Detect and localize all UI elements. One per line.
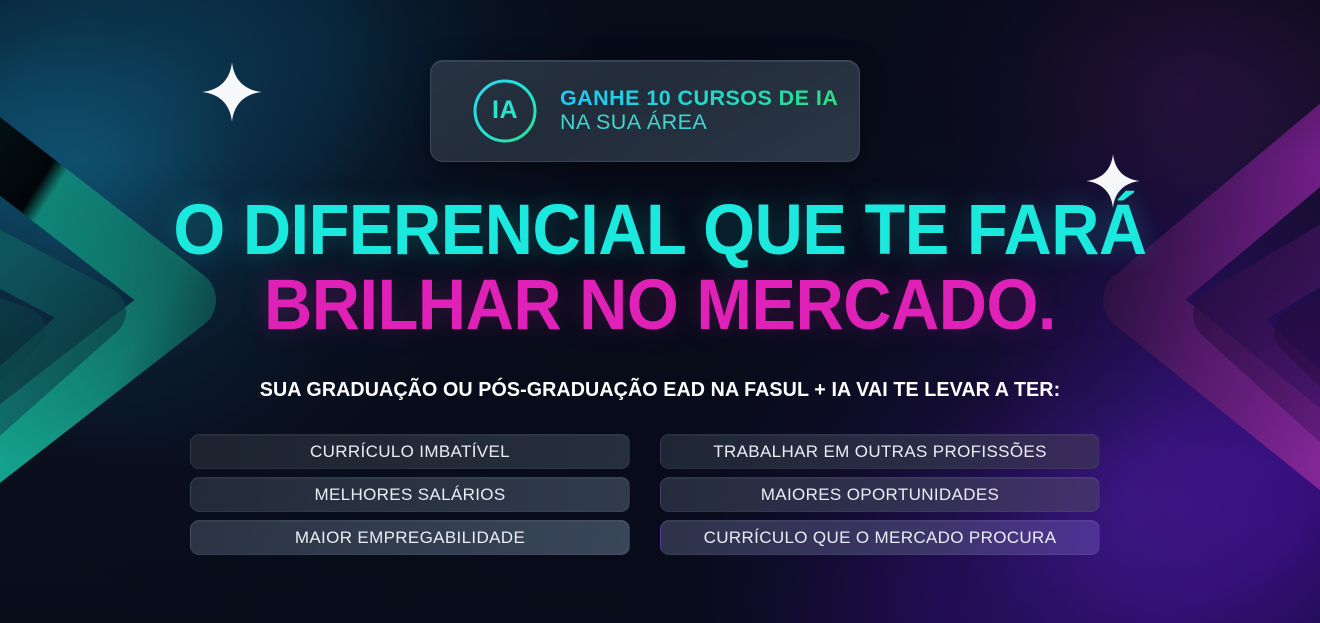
benefit-pill[interactable]: MAIORES OPORTUNIDADES (660, 477, 1100, 512)
benefits-column-left: CURRÍCULO IMBATÍVEL MELHORES SALÁRIOS MA… (190, 434, 630, 555)
benefit-pill[interactable]: TRABALHAR EM OUTRAS PROFISSÕES (660, 434, 1100, 469)
benefit-pill[interactable]: MELHORES SALÁRIOS (190, 477, 630, 512)
headline-line-1: O DIFERENCIAL QUE TE FARÁ (40, 197, 1281, 266)
benefits-column-right: TRABALHAR EM OUTRAS PROFISSÕES MAIORES O… (660, 434, 1100, 555)
headline-block: O DIFERENCIAL QUE TE FARÁ BRILHAR NO MER… (0, 197, 1320, 341)
ia-logo-icon: IA (472, 78, 538, 144)
promo-banner: IA GANHE 10 CURSOS DE IA NA SUA ÁREA O D… (0, 0, 1320, 623)
badge-subheadline: NA SUA ÁREA (560, 110, 838, 135)
headline-line-2: BRILHAR NO MERCADO. (40, 272, 1281, 341)
benefit-pill[interactable]: MAIOR EMPREGABILIDADE (190, 520, 630, 555)
benefits-grid: CURRÍCULO IMBATÍVEL MELHORES SALÁRIOS MA… (190, 434, 1100, 555)
ai-courses-badge[interactable]: IA GANHE 10 CURSOS DE IA NA SUA ÁREA (430, 60, 860, 162)
ia-logo-label: IA (472, 78, 538, 144)
benefit-pill[interactable]: CURRÍCULO IMBATÍVEL (190, 434, 630, 469)
subtitle-text: SUA GRADUAÇÃO OU PÓS-GRADUAÇÃO EAD NA FA… (26, 378, 1293, 402)
benefit-pill[interactable]: CURRÍCULO QUE O MERCADO PROCURA (660, 520, 1100, 555)
badge-headline: GANHE 10 CURSOS DE IA (560, 86, 838, 110)
